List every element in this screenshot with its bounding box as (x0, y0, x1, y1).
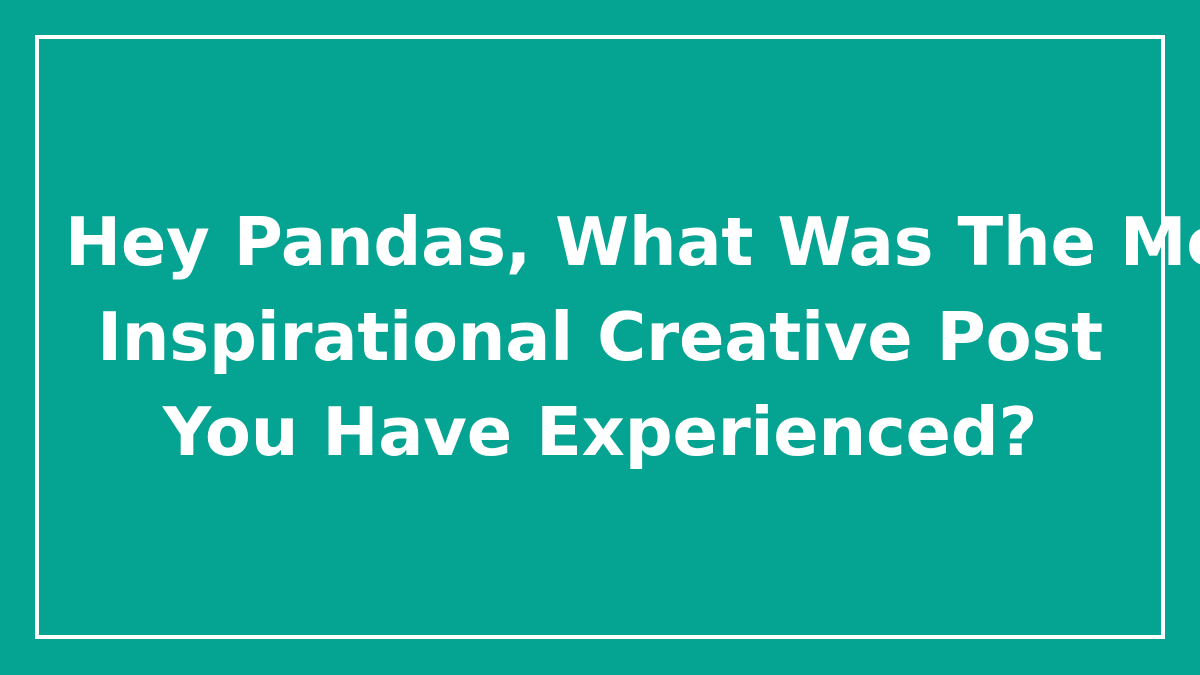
title-line-3: You Have Experienced? (65, 385, 1135, 480)
title-block: Hey Pandas, What Was The Most Inspiratio… (39, 39, 1161, 636)
title-card: Hey Pandas, What Was The Most Inspiratio… (0, 0, 1200, 675)
page-title: Hey Pandas, What Was The Most Inspiratio… (65, 195, 1135, 480)
title-line-2: Inspirational Creative Post (65, 290, 1135, 385)
title-line-1: Hey Pandas, What Was The Most (65, 195, 1135, 290)
